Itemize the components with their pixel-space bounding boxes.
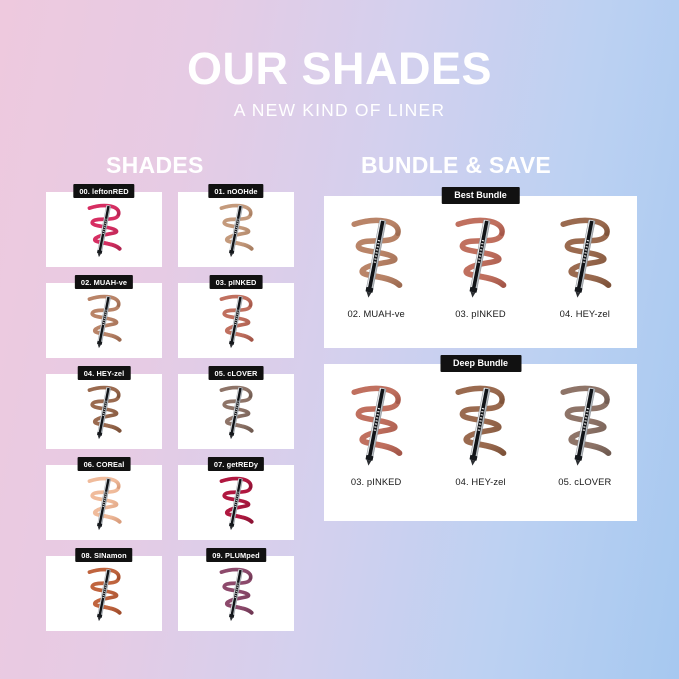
shade-swatch bbox=[46, 556, 162, 631]
shade-card[interactable]: 07. getREDy bbox=[178, 465, 294, 540]
pencil-illustration bbox=[228, 205, 243, 257]
shade-card[interactable]: 09. PLUMped bbox=[178, 556, 294, 631]
shade-card[interactable]: 03. pINKED bbox=[178, 283, 294, 358]
bundle-item-label: 03. pINKED bbox=[455, 308, 506, 319]
promo-graphic: OUR SHADES A NEW KIND OF LINER SHADES BU… bbox=[0, 0, 679, 679]
pencil-illustration bbox=[96, 296, 111, 348]
shade-swatch-svg bbox=[78, 468, 130, 538]
shade-swatch-svg bbox=[210, 286, 262, 356]
shade-label: 07. getREDy bbox=[208, 457, 264, 471]
shade-card[interactable]: 00. leftonRED bbox=[46, 192, 162, 267]
pencil-illustration bbox=[469, 388, 491, 467]
shade-swatch bbox=[46, 283, 162, 358]
shade-swatch-svg bbox=[78, 195, 130, 265]
bundle-swatch bbox=[539, 209, 631, 305]
deep-bundle-panel[interactable]: Deep Bundle bbox=[324, 364, 637, 521]
shades-section-heading: SHADES bbox=[106, 152, 204, 179]
pencil-illustration bbox=[228, 569, 243, 621]
bundle-item-label: 04. HEY-zel bbox=[455, 476, 505, 487]
pencil-illustration bbox=[96, 569, 111, 621]
shade-card[interactable]: 02. MUAH-ve bbox=[46, 283, 162, 358]
shade-card[interactable]: 08. SINamon bbox=[46, 556, 162, 631]
bundle-swatch bbox=[330, 209, 422, 305]
shade-swatch-svg bbox=[441, 375, 519, 475]
page-title: OUR SHADES bbox=[0, 46, 679, 91]
shade-swatch-svg bbox=[546, 375, 624, 475]
shade-swatch-svg bbox=[78, 377, 130, 447]
bundle-item[interactable]: 03. pINKED bbox=[431, 209, 529, 319]
shade-swatch bbox=[178, 465, 294, 540]
shade-label: 06. COREal bbox=[78, 457, 131, 471]
bundle-section-heading: BUNDLE & SAVE bbox=[361, 152, 551, 179]
shade-swatch-svg bbox=[546, 207, 624, 307]
pencil-illustration bbox=[96, 478, 111, 530]
bundle-swatch bbox=[330, 377, 422, 473]
best-bundle-panel[interactable]: Best Bundle bbox=[324, 196, 637, 348]
bundle-swatch bbox=[434, 209, 526, 305]
shade-card[interactable]: 01. nOOHde bbox=[178, 192, 294, 267]
shade-swatch-svg bbox=[210, 559, 262, 629]
bundle-item[interactable]: 04. HEY-zel bbox=[536, 209, 634, 319]
shade-swatch-svg bbox=[337, 207, 415, 307]
shade-label: 08. SINamon bbox=[75, 548, 132, 562]
deep-bundle-tag: Deep Bundle bbox=[440, 355, 521, 372]
shade-swatch-svg bbox=[78, 286, 130, 356]
page-subtitle: A NEW KIND OF LINER bbox=[0, 100, 679, 121]
bundle-item[interactable]: 05. cLOVER bbox=[536, 377, 634, 487]
shade-swatch bbox=[178, 556, 294, 631]
pencil-illustration bbox=[96, 387, 111, 439]
shade-swatch bbox=[46, 374, 162, 449]
shade-swatch bbox=[178, 192, 294, 267]
pencil-illustration bbox=[573, 220, 595, 299]
pencil-illustration bbox=[573, 388, 595, 467]
pencil-illustration bbox=[365, 220, 387, 299]
best-bundle-tag: Best Bundle bbox=[441, 187, 520, 204]
pencil-illustration bbox=[469, 220, 491, 299]
shade-swatch-svg bbox=[78, 559, 130, 629]
shade-swatch-svg bbox=[337, 375, 415, 475]
bundle-item-label: 02. MUAH-ve bbox=[347, 308, 404, 319]
pencil-illustration bbox=[365, 388, 387, 467]
shade-label: 09. PLUMped bbox=[206, 548, 266, 562]
shade-swatch-svg bbox=[210, 195, 262, 265]
bundle-item[interactable]: 02. MUAH-ve bbox=[327, 209, 425, 319]
pencil-illustration bbox=[96, 205, 111, 257]
bundle-item[interactable]: 03. pINKED bbox=[327, 377, 425, 487]
pencil-illustration bbox=[228, 478, 243, 530]
deep-bundle-items: 03. pINKED bbox=[324, 364, 637, 521]
bundle-swatch bbox=[434, 377, 526, 473]
shade-card[interactable]: 04. HEY-zel bbox=[46, 374, 162, 449]
shade-label: 00. leftonRED bbox=[73, 184, 134, 198]
shade-label: 01. nOOHde bbox=[208, 184, 263, 198]
bundle-item-label: 03. pINKED bbox=[351, 476, 402, 487]
shade-card[interactable]: 06. COREal bbox=[46, 465, 162, 540]
shade-label: 02. MUAH-ve bbox=[75, 275, 133, 289]
shade-swatch-svg bbox=[210, 468, 262, 538]
best-bundle-items: 02. MUAH-ve bbox=[324, 196, 637, 348]
shade-label: 03. pINKED bbox=[210, 275, 263, 289]
shade-swatch bbox=[46, 465, 162, 540]
shade-swatch-svg bbox=[210, 377, 262, 447]
bundle-item[interactable]: 04. HEY-zel bbox=[431, 377, 529, 487]
shade-card[interactable]: 05. cLOVER bbox=[178, 374, 294, 449]
bundle-swatch bbox=[539, 377, 631, 473]
shade-label: 05. cLOVER bbox=[209, 366, 264, 380]
shades-grid: 00. leftonRED bbox=[46, 192, 294, 631]
page-header: OUR SHADES A NEW KIND OF LINER bbox=[0, 46, 679, 121]
pencil-illustration bbox=[228, 296, 243, 348]
shade-swatch bbox=[178, 374, 294, 449]
bundle-item-label: 04. HEY-zel bbox=[560, 308, 610, 319]
shade-label: 04. HEY-zel bbox=[78, 366, 131, 380]
shade-swatch bbox=[178, 283, 294, 358]
bundle-item-label: 05. cLOVER bbox=[558, 476, 611, 487]
shade-swatch-svg bbox=[441, 207, 519, 307]
pencil-illustration bbox=[228, 387, 243, 439]
shade-swatch bbox=[46, 192, 162, 267]
